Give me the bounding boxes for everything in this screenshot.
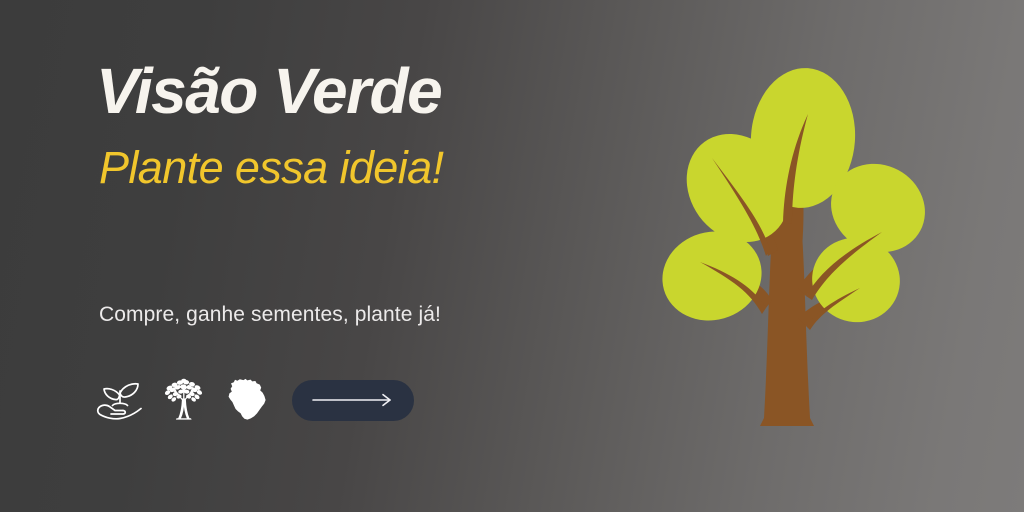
promo-banner: Visão Verde Plante essa ideia! Compre, g… (0, 0, 1024, 512)
tree-icon[interactable] (152, 374, 216, 426)
brazil-map-icon[interactable] (216, 374, 280, 426)
subtitle: Plante essa ideia! (99, 143, 616, 193)
icon-row (88, 374, 414, 426)
hand-seedling-icon[interactable] (88, 374, 152, 426)
arrow-button[interactable] (292, 380, 414, 421)
stylized-tree-illustration (620, 18, 950, 438)
page-title: Visão Verde (96, 58, 616, 125)
body-text: Compre, ganhe sementes, plante já! (99, 303, 441, 327)
headline-block: Visão Verde Plante essa ideia! (96, 58, 616, 193)
